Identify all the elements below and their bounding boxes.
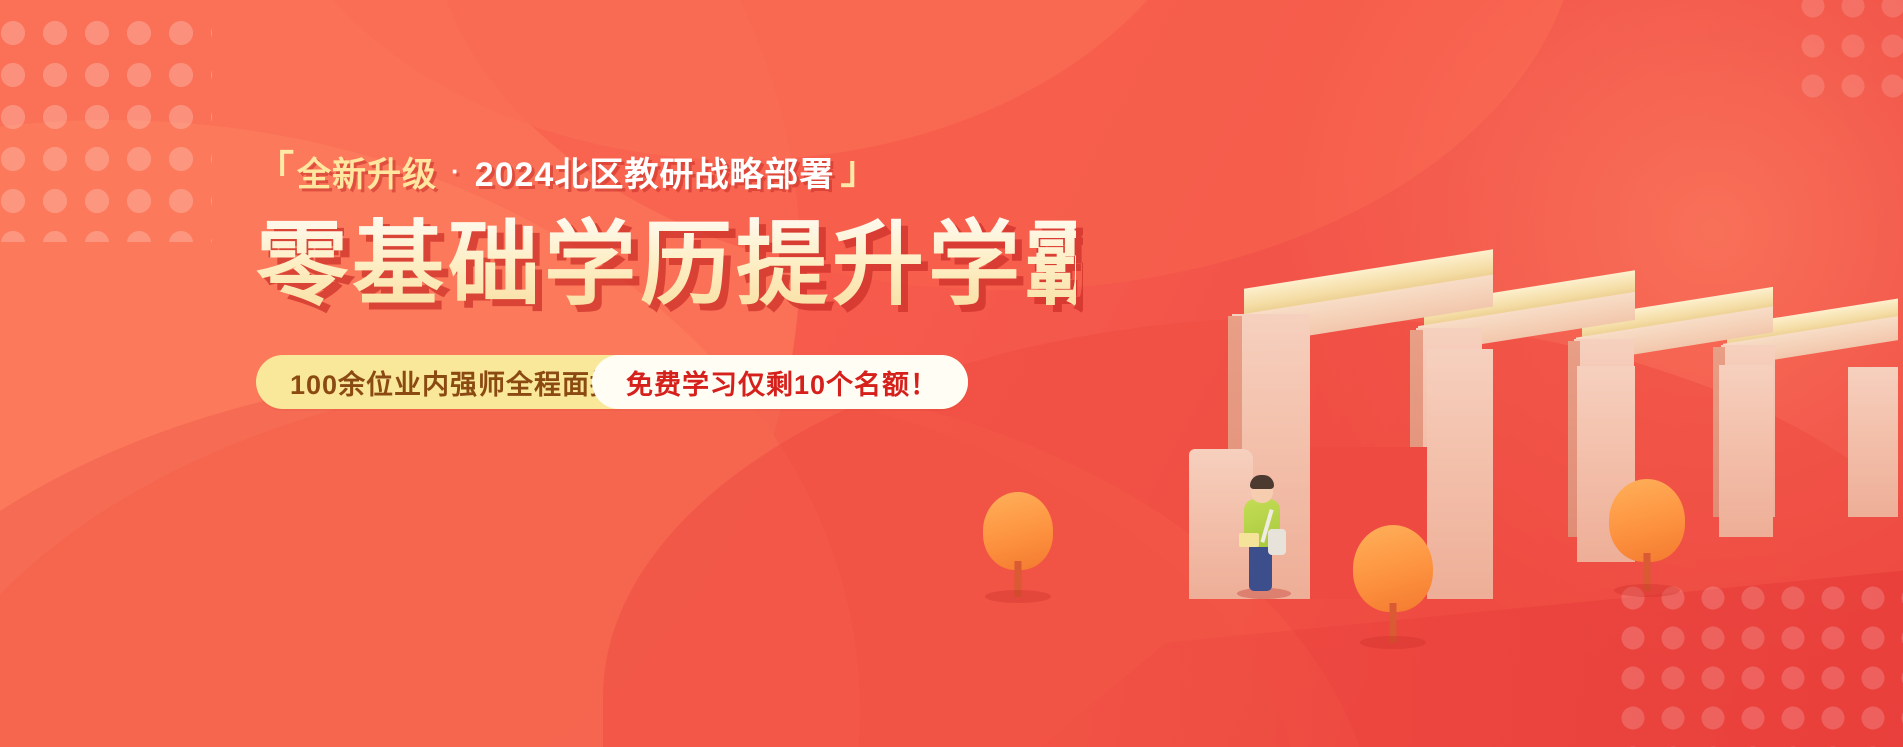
banner-headline: 零基础学历提升学霸班 xyxy=(256,216,1076,315)
tree-right-shadow xyxy=(1614,584,1680,597)
tree-left-shadow xyxy=(985,590,1051,603)
tree-right-crown xyxy=(1609,479,1685,562)
book-arch-illustration xyxy=(1003,0,1903,747)
book-arch-4-right-leg xyxy=(1848,367,1898,517)
tree-mid-shadow xyxy=(1360,636,1426,649)
figure-bag xyxy=(1268,529,1286,555)
eyebrow-separator-dot: · xyxy=(451,156,461,187)
book-arch-3-right-leg xyxy=(1719,365,1773,537)
tree-mid xyxy=(1353,525,1433,643)
dot-pattern-top-left xyxy=(0,12,212,242)
tree-left-crown xyxy=(983,492,1053,570)
tree-mid-crown xyxy=(1353,525,1433,612)
banner-eyebrow: 「 全新升级 · 2024北区教研战略部署 」 xyxy=(256,148,1076,194)
eyebrow-bracket-open: 「 xyxy=(256,152,295,190)
pill-teachers-label: 100余位业内强师全程面授 xyxy=(256,363,638,402)
figure-hair xyxy=(1250,475,1274,489)
eyebrow-highlight-text: 全新升级 xyxy=(297,147,437,196)
banner-pill-group: 100余位业内强师全程面授 免费学习仅剩10个名额！ xyxy=(256,355,968,409)
promo-banner: 「 全新升级 · 2024北区教研战略部署 」 零基础学历提升学霸班 100余位… xyxy=(0,0,1903,747)
figure-book xyxy=(1239,533,1259,547)
tree-right xyxy=(1609,479,1685,591)
banner-copy: 「 全新升级 · 2024北区教研战略部署 」 零基础学历提升学霸班 100余位… xyxy=(256,148,1076,409)
student-walking-figure xyxy=(1235,465,1295,595)
eyebrow-main-text: 2024北区教研战略部署 xyxy=(475,147,835,196)
pill-seats-remaining-badge[interactable]: 免费学习仅剩10个名额！ xyxy=(592,355,968,409)
book-arch-1-right-leg xyxy=(1427,349,1493,599)
tree-left xyxy=(983,492,1053,597)
eyebrow-bracket-close: 」 xyxy=(840,152,879,190)
